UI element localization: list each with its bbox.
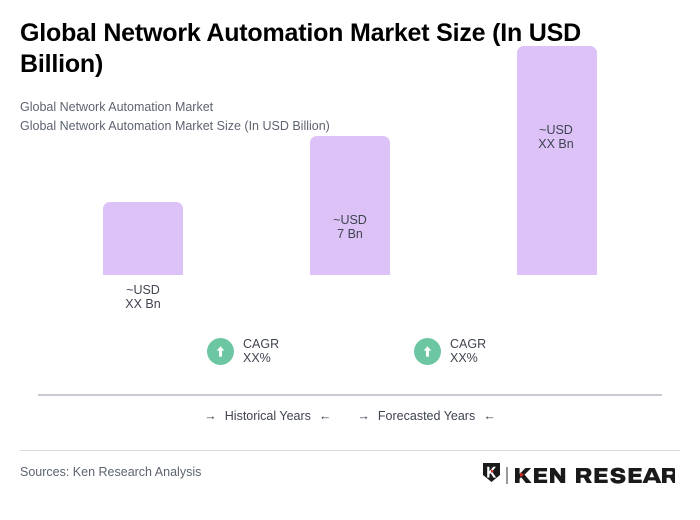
ken-research-logo [482,462,675,488]
bar-value-label-forecast: ~USD XX Bn [496,123,616,152]
chart-baseline-axis [38,394,662,396]
period-band-forecast: → Forecasted Years ← [357,409,495,423]
bar-forecast [517,46,597,275]
arrow-right-icon: → [204,410,217,423]
ken-research-wordmark [513,466,675,485]
period-band-historical: → Historical Years ← [204,409,331,423]
arrow-left-icon: ← [483,410,496,423]
bar-chart-plot: ~USD XX Bn ~USD 7 Bn ~USD XX Bn CAGR XX%… [0,0,700,400]
footer-divider [20,450,680,451]
bar-value-label-historical: ~USD XX Bn [83,283,203,312]
cagr-label-historical: CAGR XX% [243,337,279,366]
chart-slide: Global Network Automation Market Size (I… [0,0,700,520]
cagr-badge-historical: CAGR XX% [207,337,279,366]
arrow-up-icon [414,338,441,365]
period-bands: → Historical Years ← → Forecasted Years … [0,409,700,423]
arrow-up-icon [207,338,234,365]
cagr-title-forecast: CAGR [450,337,486,351]
arrow-left-icon: ← [319,410,332,423]
cagr-title-historical: CAGR [243,337,279,351]
period-label-forecast: Forecasted Years [378,409,475,423]
cagr-label-forecast: CAGR XX% [450,337,486,366]
bar-historical [103,202,183,275]
cagr-badge-forecast: CAGR XX% [414,337,486,366]
bar-value-label-current: ~USD 7 Bn [290,213,410,242]
ken-research-shield-icon [482,462,501,488]
cagr-value-historical: XX% [243,351,271,365]
sources-text: Sources: Ken Research Analysis [20,465,201,479]
cagr-value-forecast: XX% [450,351,478,365]
bar-current [310,136,390,275]
period-label-historical: Historical Years [225,409,311,423]
arrow-right-icon: → [357,410,370,423]
logo-divider [506,467,508,484]
